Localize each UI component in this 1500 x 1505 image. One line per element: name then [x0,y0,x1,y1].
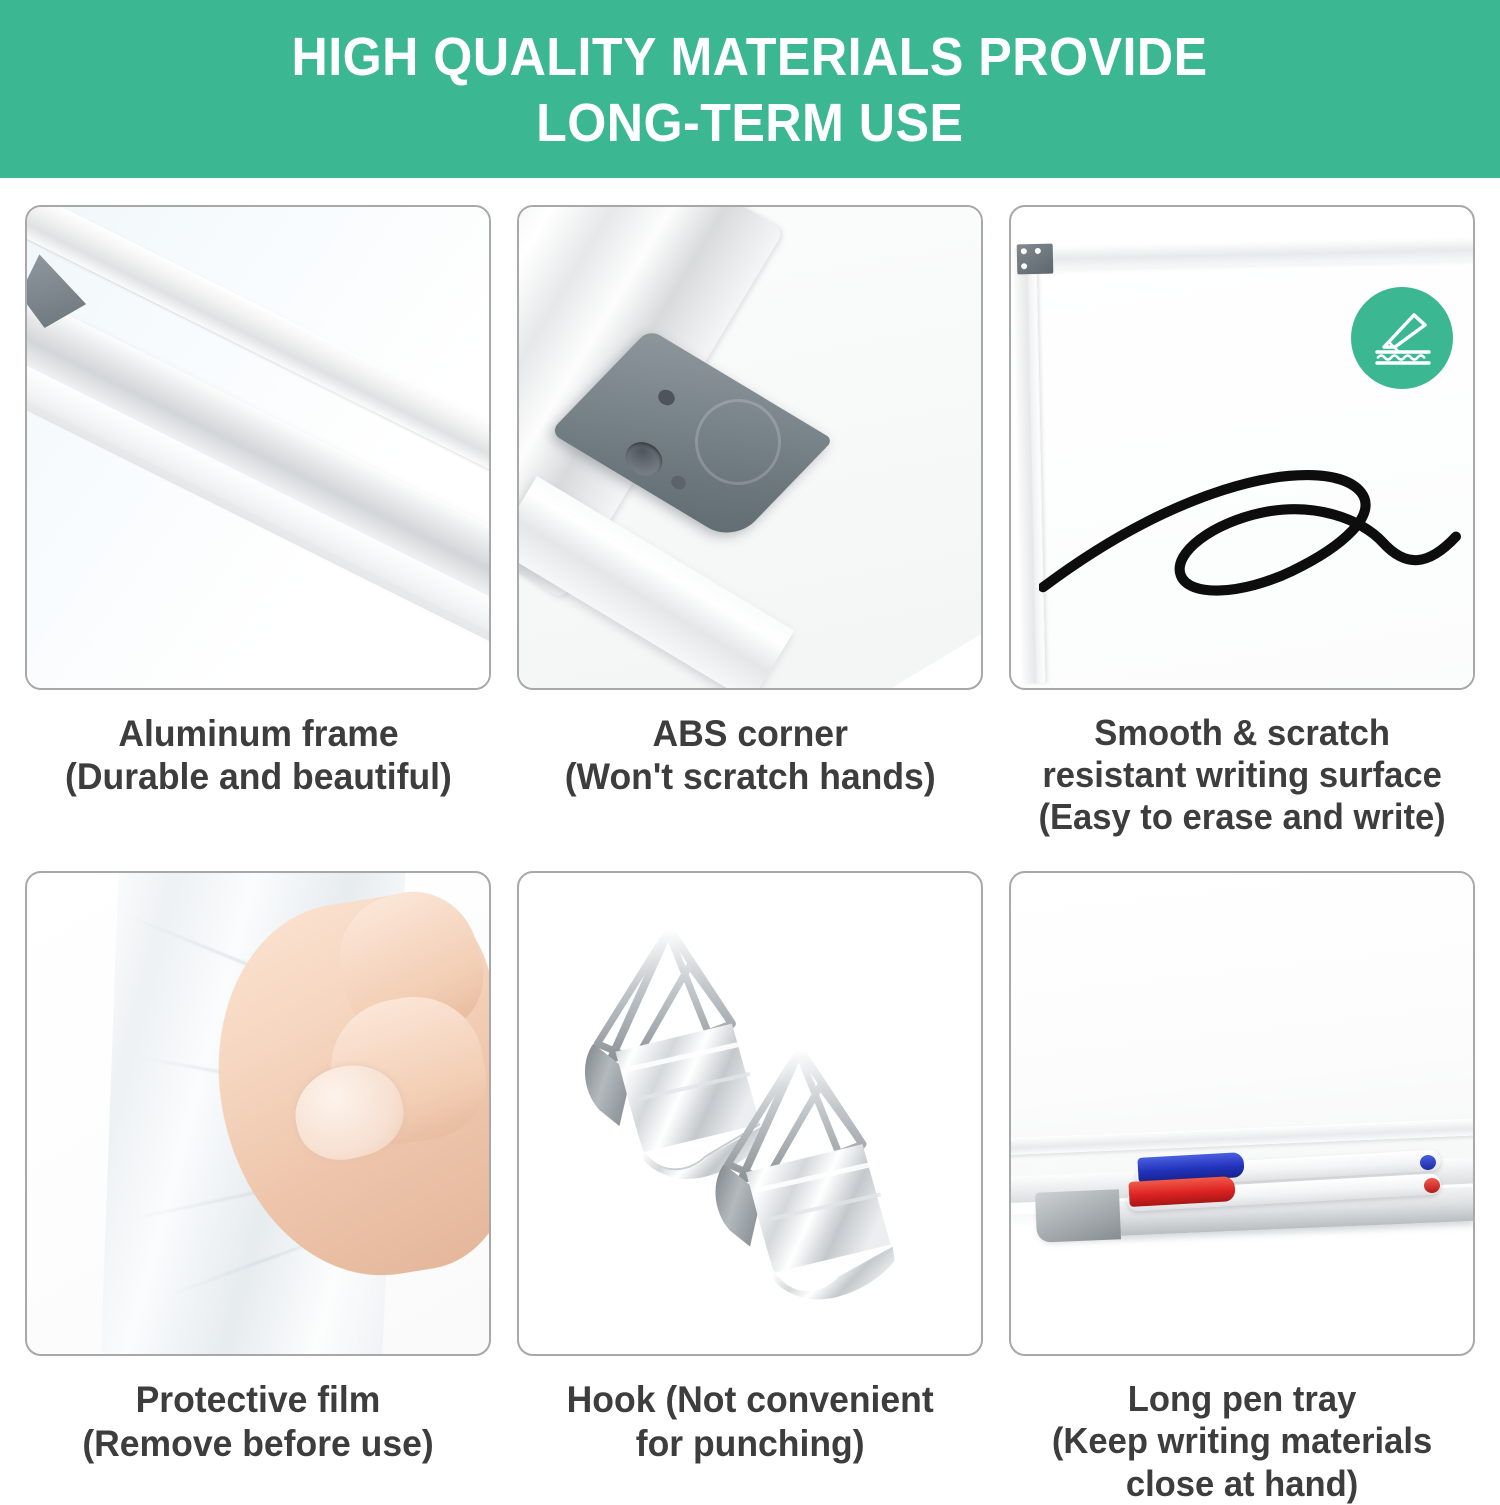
feature-caption-hook: Hook (Not convenient for punching) [566,1356,933,1465]
corner-mount-plate [1017,243,1054,274]
feature-caption-writing-surface: Smooth & scratch resistant writing surfa… [1038,690,1445,838]
feature-caption-abs-corner: ABS corner (Won't scratch hands) [565,690,936,799]
feature-cell-aluminum-frame: Aluminum frame (Durable and beautiful) [25,205,491,838]
mount-hole [1035,247,1041,253]
hook-pair-illustration [519,873,981,1335]
feature-image-protective-film [25,871,491,1356]
feature-image-writing-surface [1009,205,1475,690]
pen-tray-end-cap [1035,1189,1121,1242]
feature-cell-abs-corner: ABS corner (Won't scratch hands) [517,205,983,838]
feature-image-hook [517,871,983,1356]
feature-grid-row-1: Aluminum frame (Durable and beautiful) A… [0,178,1500,838]
banner-title-line-2: LONG-TERM USE [536,91,963,157]
hook-item [585,930,764,1180]
erasable-surface-badge [1351,287,1453,389]
feature-grid-row-2: Protective film (Remove before use) [0,838,1500,1504]
feature-caption-pen-tray: Long pen tray (Keep writing materials cl… [1052,1356,1432,1504]
banner-title-line-1: HIGH QUALITY MATERIALS PROVIDE [292,25,1208,91]
feature-cell-protective-film: Protective film (Remove before use) [25,871,491,1504]
marker-scribble [1039,409,1464,678]
pen-on-surface-icon [1365,301,1439,375]
feature-caption-protective-film: Protective film (Remove before use) [82,1356,433,1465]
feature-cell-hook: Hook (Not convenient for punching) [517,871,983,1504]
mount-hole [1021,263,1027,269]
header-banner: HIGH QUALITY MATERIALS PROVIDE LONG-TERM… [0,0,1500,178]
mount-hole [1021,248,1027,254]
feature-image-abs-corner [517,205,983,690]
feature-cell-writing-surface: Smooth & scratch resistant writing surfa… [1009,205,1475,838]
feature-image-aluminum-frame [25,205,491,690]
feature-caption-aluminum-frame: Aluminum frame (Durable and beautiful) [65,690,452,799]
feature-cell-pen-tray: Long pen tray (Keep writing materials cl… [1009,871,1475,1504]
feature-image-pen-tray [1009,871,1475,1356]
